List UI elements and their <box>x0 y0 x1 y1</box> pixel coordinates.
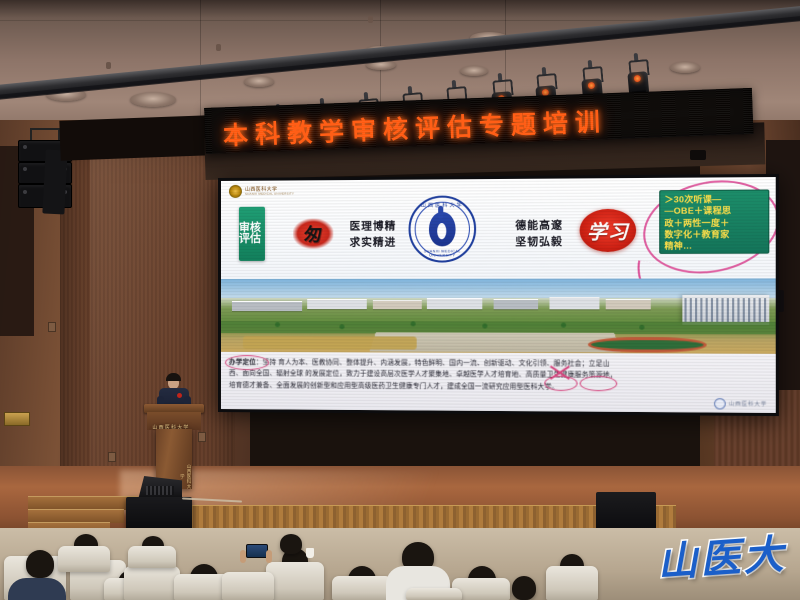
campus-field <box>242 336 416 350</box>
ceiling-downlight <box>670 62 700 73</box>
wall-plaque <box>4 412 30 426</box>
red-mark-glyph: 匆 <box>302 221 324 247</box>
motto-right-line2: 坚韧弘毅 <box>515 234 563 251</box>
footer-text-1: ：坚持 育人为本、医教协同、整体提升、内涵发展，特色鲜明、国内一流、创新驱动、文… <box>256 359 610 368</box>
university-name-en: SHANXI MEDICAL UNIVERSITY <box>245 192 294 195</box>
hand-right <box>266 550 272 563</box>
study-seal: 学习 <box>580 209 636 252</box>
sprinkler-head <box>368 16 373 23</box>
slide-footer-text: 办学定位：坚持 育人为本、医教协同、整体提升、内涵发展，特色鲜明、国内一流、创新… <box>221 352 776 413</box>
led-display-wall: 山西医科大学 SHANXI MEDICAL UNIVERSITY 审核评估 匆 … <box>218 174 779 416</box>
university-seal-icon <box>229 185 242 198</box>
ceiling-downlight <box>130 92 176 107</box>
ceiling-downlight <box>244 76 274 87</box>
motto-right: 德能高邃 坚韧弘毅 <box>515 217 563 250</box>
callout-line2: —OBE＋课程思 <box>664 205 764 217</box>
lectern: 山西医科大学 山西医科大学 <box>150 404 198 488</box>
main-campus-building <box>682 295 769 325</box>
auditorium-scene: 本科教学审核评估专题培训 山西医科大学 SHANXI MEDICAL UNIVE… <box>0 0 800 600</box>
callout-line3: 政＋两性一度＋ <box>664 217 764 229</box>
emblem-flame-icon <box>429 212 456 247</box>
audience-seat <box>266 562 324 600</box>
wall-speaker-bracket <box>48 322 56 332</box>
motto-left-line2: 求实精进 <box>350 235 397 252</box>
emblem-arc-bottom: SHANXI MEDICAL UNIVERSITY <box>411 249 475 257</box>
projected-slide: 山西医科大学 SHANXI MEDICAL UNIVERSITY 审核评估 匆 … <box>221 177 776 413</box>
lectern-front-panel: 山西医科大学 <box>147 412 201 430</box>
university-emblem: 山西医科大学 SHANXI MEDICAL UNIVERSITY <box>409 195 477 262</box>
green-callout-box: ＞30次听课— —OBE＋课程思 政＋两性一度＋ 数字化＋教育家 精神… <box>659 189 769 253</box>
footer-highlight-scribble <box>544 375 617 392</box>
audience-seat <box>546 566 598 600</box>
audience-head <box>26 550 54 578</box>
evaluation-badge: 审核评估 <box>239 207 265 261</box>
university-logo-small: 山西医科大学 SHANXI MEDICAL UNIVERSITY <box>229 184 294 197</box>
audience-seat <box>58 546 110 572</box>
key-term-highlight-circle <box>225 355 269 370</box>
smartphone-screen <box>246 544 268 558</box>
audience-seat <box>332 576 392 600</box>
motto-left-line1: 医理博精 <box>350 218 397 235</box>
footer-university-name: 山西医科大学 <box>729 400 767 407</box>
audience-seat <box>222 572 274 600</box>
paper-cup <box>306 548 314 558</box>
red-calligraphy-mark: 匆 <box>293 218 333 248</box>
footer-seal-icon <box>714 398 726 409</box>
wall-switch <box>108 452 116 462</box>
motto-left: 医理博精 求实精进 <box>350 218 397 251</box>
sports-track <box>588 337 707 353</box>
hand-left <box>240 550 246 563</box>
presenter-badge <box>177 393 182 398</box>
motto-right-line1: 德能高邃 <box>515 217 563 234</box>
audience-seat <box>406 588 462 600</box>
callout-line5: 精神… <box>664 241 764 253</box>
footer-line-3: 培育德才兼备、全面发展的创新型和应用型高级医药卫生健康专门人才，建成全国一流研究… <box>229 380 767 395</box>
monitor-grille <box>146 486 174 495</box>
callout-line1: ＞30次听课— <box>664 194 764 206</box>
slide-footer-logo: 山西医科大学 <box>714 398 767 410</box>
sprinkler-head <box>216 44 221 51</box>
slide-header: 山西医科大学 SHANXI MEDICAL UNIVERSITY 审核评估 匆 … <box>221 177 776 279</box>
banner-surround <box>59 115 210 160</box>
campus-aerial-photo <box>221 278 776 353</box>
study-seal-text: 学习 <box>587 217 629 245</box>
audience-seat <box>128 546 176 568</box>
sprinkler-head <box>106 62 111 69</box>
callout-line4: 数字化＋教育家 <box>664 229 764 241</box>
ceiling-downlight <box>460 66 488 76</box>
video-watermark: 山医大 <box>655 522 788 589</box>
audience-head <box>280 534 302 554</box>
presenter <box>158 374 190 408</box>
presenter-hair <box>166 373 181 381</box>
audience-seat <box>124 566 180 600</box>
audience-shoulders <box>8 578 66 600</box>
audience-head <box>512 576 536 600</box>
wall-switch <box>198 432 206 442</box>
ceiling-speaker <box>690 150 706 160</box>
